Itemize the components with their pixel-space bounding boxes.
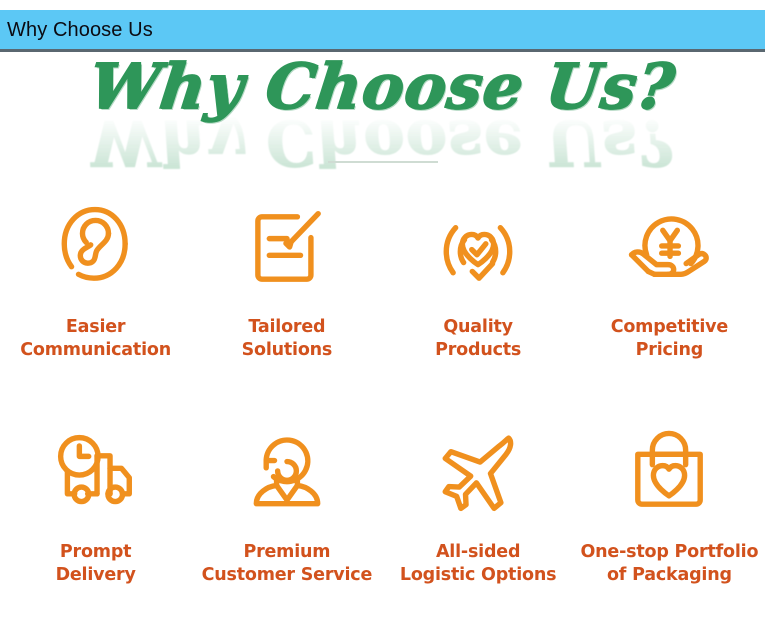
feature-label: Quality Products xyxy=(435,316,521,362)
feature-item-competitive-pricing[interactable]: Competitive Pricing xyxy=(574,196,765,362)
airplane-icon xyxy=(426,421,530,525)
feature-label: Premium Customer Service xyxy=(202,541,372,587)
feature-label: All-sided Logistic Options xyxy=(400,541,556,587)
feature-label: Tailored Solutions xyxy=(242,316,333,362)
feature-label: Prompt Delivery xyxy=(56,541,136,587)
hero-section: Why Choose Us? Why Choose Us? xyxy=(0,55,765,185)
feature-item-premium-customer-service[interactable]: Premium Customer Service xyxy=(191,407,382,587)
headset-person-icon xyxy=(235,421,339,525)
heart-checkmark-signal-icon xyxy=(426,196,530,300)
document-pencil-icon xyxy=(235,196,339,300)
hero-title-wrap: Why Choose Us? xyxy=(0,55,765,155)
window-titlebar: Why Choose Us xyxy=(0,10,765,52)
feature-item-quality-products[interactable]: Quality Products xyxy=(383,196,574,362)
window-title: Why Choose Us xyxy=(0,20,153,40)
feature-item-easier-communication[interactable]: Easier Communication xyxy=(0,196,191,362)
shopping-bag-heart-icon xyxy=(617,421,721,525)
page-title: Why Choose Us? xyxy=(86,55,678,118)
feature-item-all-sided-logistic-options[interactable]: All-sided Logistic Options xyxy=(383,407,574,587)
feature-label: Easier Communication xyxy=(20,316,171,362)
feature-item-one-stop-portfolio[interactable]: One-stop Portfolio of Packaging xyxy=(574,407,765,587)
feature-label: One-stop Portfolio of Packaging xyxy=(580,541,758,587)
feature-item-prompt-delivery[interactable]: Prompt Delivery xyxy=(0,407,191,587)
feature-item-tailored-solutions[interactable]: Tailored Solutions xyxy=(191,196,382,362)
hand-yen-coin-icon xyxy=(617,196,721,300)
hero-divider xyxy=(328,161,438,163)
ear-in-circle-icon xyxy=(44,196,148,300)
truck-clock-icon xyxy=(44,421,148,525)
feature-label: Competitive Pricing xyxy=(611,316,728,362)
features-grid: Easier Communication Tailored Solutions xyxy=(0,196,765,618)
